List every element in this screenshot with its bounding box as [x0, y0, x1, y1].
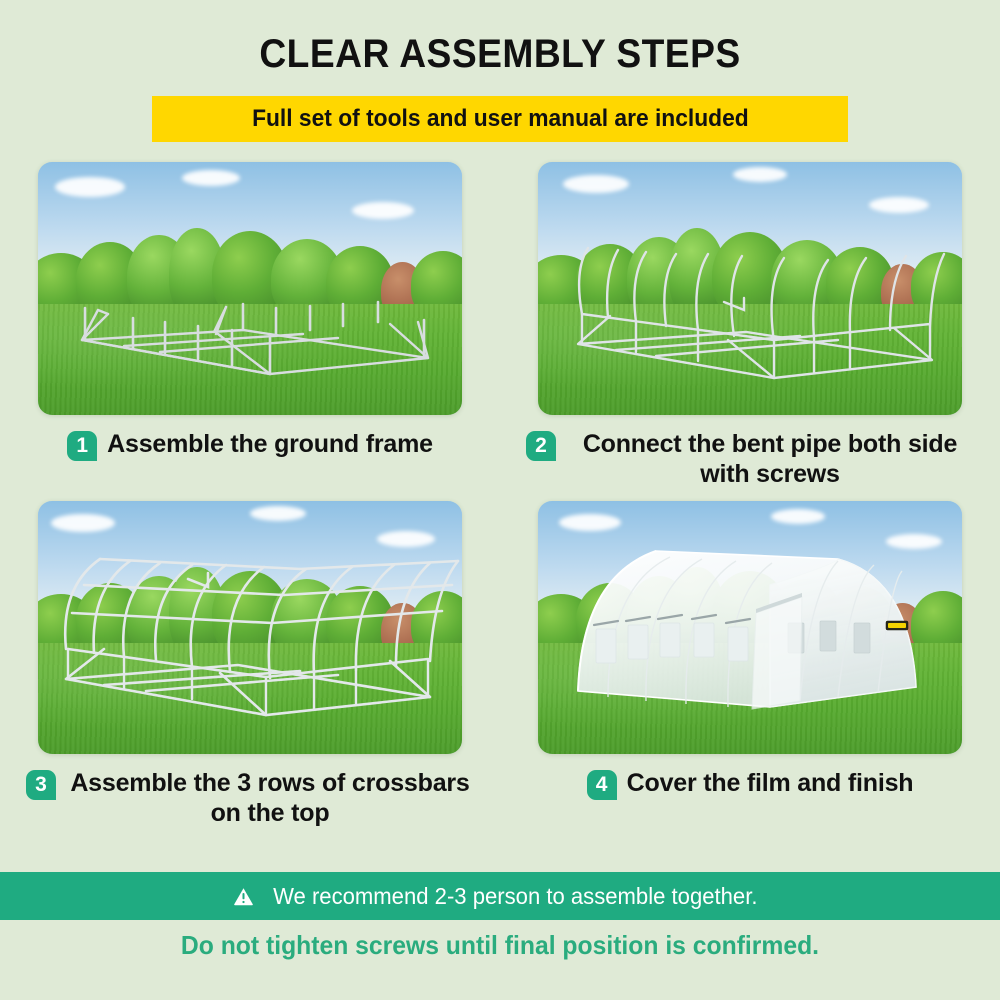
page-title: CLEAR ASSEMBLY STEPS [35, 32, 965, 77]
ground-frame-illustration [38, 162, 462, 415]
footer-note-text: Do not tighten screws until final positi… [25, 930, 975, 961]
step-caption-2: 2 Connect the bent pipe both side with s… [500, 415, 1000, 501]
steps-row-1: 1 Assemble the ground frame [0, 162, 1000, 501]
step-image-1 [38, 162, 462, 415]
step-image-3 [38, 501, 462, 754]
crossbar-frame-illustration [38, 501, 462, 754]
step-number-badge: 2 [526, 431, 556, 461]
warning-triangle-icon [233, 886, 254, 907]
step-caption-3: 3 Assemble the 3 rows of crossbars on th… [0, 754, 500, 840]
step-image-4 [538, 501, 962, 754]
step-card-4: 4 Cover the film and finish [500, 501, 1000, 840]
step-number-badge: 3 [26, 770, 56, 800]
step-caption-text: Assemble the ground frame [107, 429, 433, 460]
step-caption-text: Cover the film and finish [627, 768, 914, 799]
subtitle-banner: Full set of tools and user manual are in… [152, 96, 848, 142]
steps-grid: 1 Assemble the ground frame [0, 162, 1000, 840]
step-caption-text: Assemble the 3 rows of crossbars on the … [66, 768, 474, 828]
subtitle-text: Full set of tools and user manual are in… [252, 105, 749, 133]
step-caption-text: Connect the bent pipe both side with scr… [566, 429, 974, 489]
step-number-badge: 1 [67, 431, 97, 461]
covered-greenhouse-illustration [538, 501, 962, 754]
step-caption-4: 4 Cover the film and finish [500, 754, 1000, 840]
footer-warning-text: We recommend 2-3 person to assemble toge… [273, 883, 757, 910]
step-number-badge: 4 [587, 770, 617, 800]
footer-warning-bar: We recommend 2-3 person to assemble toge… [0, 872, 1000, 920]
assembly-steps-page: CLEAR ASSEMBLY STEPS Full set of tools a… [0, 0, 1000, 1000]
step-card-1: 1 Assemble the ground frame [0, 162, 500, 501]
step-card-3: 3 Assemble the 3 rows of crossbars on th… [0, 501, 500, 840]
bent-pipe-frame-illustration [538, 162, 962, 415]
steps-row-2: 3 Assemble the 3 rows of crossbars on th… [0, 501, 1000, 840]
step-caption-1: 1 Assemble the ground frame [0, 415, 500, 501]
step-card-2: 2 Connect the bent pipe both side with s… [500, 162, 1000, 501]
step-image-2 [538, 162, 962, 415]
